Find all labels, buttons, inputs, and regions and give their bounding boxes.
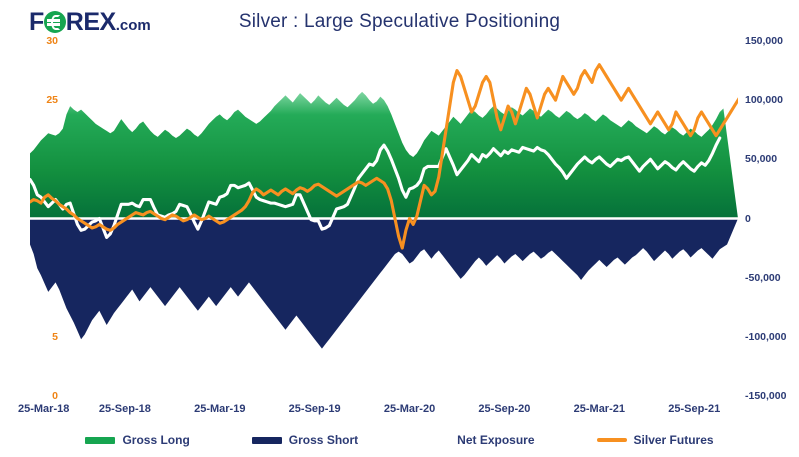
right-axis-tick: -100,000 (745, 332, 799, 343)
legend-swatch-silver-futures (597, 438, 627, 442)
right-axis-tick: 100,000 (745, 95, 799, 106)
legend-swatch-gross-short (252, 437, 282, 444)
gross-short-area (30, 219, 738, 349)
legend-item[interactable]: Silver Futures (597, 433, 714, 447)
right-axis-tick: 0 (745, 214, 799, 225)
legend-label: Silver Futures (634, 433, 714, 447)
right-axis-tick: 50,000 (745, 154, 799, 165)
legend-label: Net Exposure (457, 433, 534, 447)
legend-swatch-gross-long (85, 437, 115, 444)
gross-long-area (30, 92, 738, 219)
x-axis-tick: 25-Mar-19 (194, 404, 245, 415)
legend-item[interactable]: Net Exposure (420, 433, 534, 447)
x-axis-tick: 25-Sep-20 (478, 404, 530, 415)
x-axis-tick: 25-Sep-21 (668, 404, 720, 415)
legend-label: Gross Short (289, 433, 358, 447)
chart-title: Silver : Large Speculative Positioning (0, 11, 799, 33)
right-axis-tick: 150,000 (745, 36, 799, 47)
x-axis-tick: 25-Sep-19 (289, 404, 341, 415)
x-axis-tick: 25-Mar-20 (384, 404, 435, 415)
x-axis-tick: 25-Mar-21 (574, 404, 625, 415)
legend-label: Gross Long (122, 433, 189, 447)
chart-legend: Gross LongGross ShortNet ExposureSilver … (0, 433, 799, 447)
x-axis-tick: 25-Sep-18 (99, 404, 151, 415)
positioning-chart (30, 41, 738, 396)
chart-plot-area (30, 41, 738, 396)
legend-item[interactable]: Gross Short (252, 433, 358, 447)
right-axis-tick: -50,000 (745, 273, 799, 284)
legend-swatch-net-exposure (420, 438, 450, 442)
legend-item[interactable]: Gross Long (85, 433, 189, 447)
x-axis-tick: 25-Mar-18 (18, 404, 69, 415)
right-axis-tick: -150,000 (745, 391, 799, 402)
